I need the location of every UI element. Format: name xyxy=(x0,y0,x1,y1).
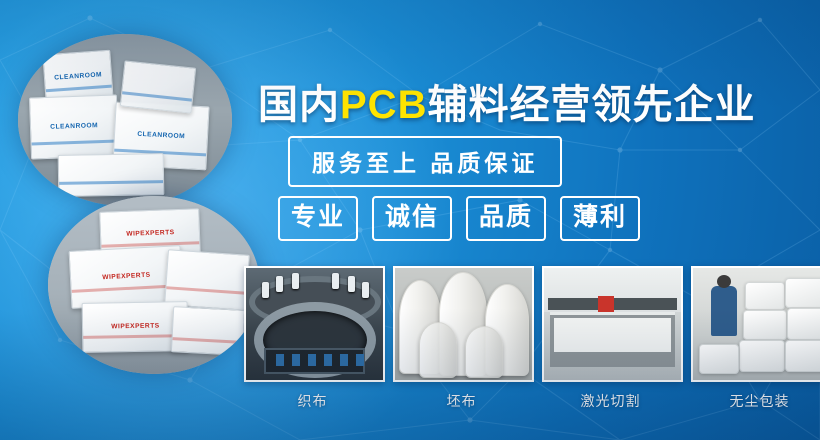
process-thumbnail-greige: 坯布 xyxy=(393,266,530,411)
headline: 国内PCB辅料经营领先企业 xyxy=(258,72,798,130)
pack-label: CLEANROOM xyxy=(137,131,185,142)
knitting-machine-photo xyxy=(244,266,385,382)
thumbnail-caption: 激光切割 xyxy=(542,391,679,411)
process-thumbnail-laser-cutting: 激光切割 xyxy=(542,266,679,411)
pack-label: CLEANROOM xyxy=(50,122,98,132)
cleanroom-wipes-packs-photo: CLEANROOM CLEANROOM CLEANROOM xyxy=(18,34,232,206)
thumbnail-caption: 无尘包装 xyxy=(691,391,820,411)
feature-chip: 品质 xyxy=(466,196,546,241)
feature-chip: 诚信 xyxy=(372,196,452,241)
carton-label: WIPEXPERTS xyxy=(111,322,159,331)
headline-suffix: 辅料经营领先企业 xyxy=(427,83,755,127)
feature-chip: 专业 xyxy=(278,196,358,241)
carton-label: WIPEXPERTS xyxy=(126,229,175,239)
thumbnail-caption: 坯布 xyxy=(393,391,530,411)
process-thumbnail-cleanroom-packing: 无尘包装 xyxy=(691,266,820,411)
promotional-banner: CLEANROOM CLEANROOM CLEANROOM xyxy=(0,0,820,440)
feature-chip: 薄利 xyxy=(560,196,640,241)
headline-highlight: PCB xyxy=(340,83,427,127)
pack-label: CLEANROOM xyxy=(54,71,102,83)
feature-chip-list: 专业 诚信 品质 薄利 xyxy=(278,196,640,241)
headline-prefix: 国内 xyxy=(258,83,340,127)
process-thumbnail-weaving: 织布 xyxy=(244,266,381,411)
subtitle-badge: 服务至上 品质保证 xyxy=(288,136,562,187)
carton-label: WIPEXPERTS xyxy=(102,272,151,283)
laser-cutting-photo xyxy=(542,266,683,382)
process-thumbnail-list: 织布 坯布 xyxy=(244,266,820,411)
cleanroom-packing-photo xyxy=(691,266,820,382)
thumbnail-caption: 织布 xyxy=(244,391,381,411)
fabric-rolls-photo xyxy=(393,266,534,382)
wipexperts-cartons-photo: WIPEXPERTS WIPEXPERTS WIPEXPERTS xyxy=(48,196,260,374)
